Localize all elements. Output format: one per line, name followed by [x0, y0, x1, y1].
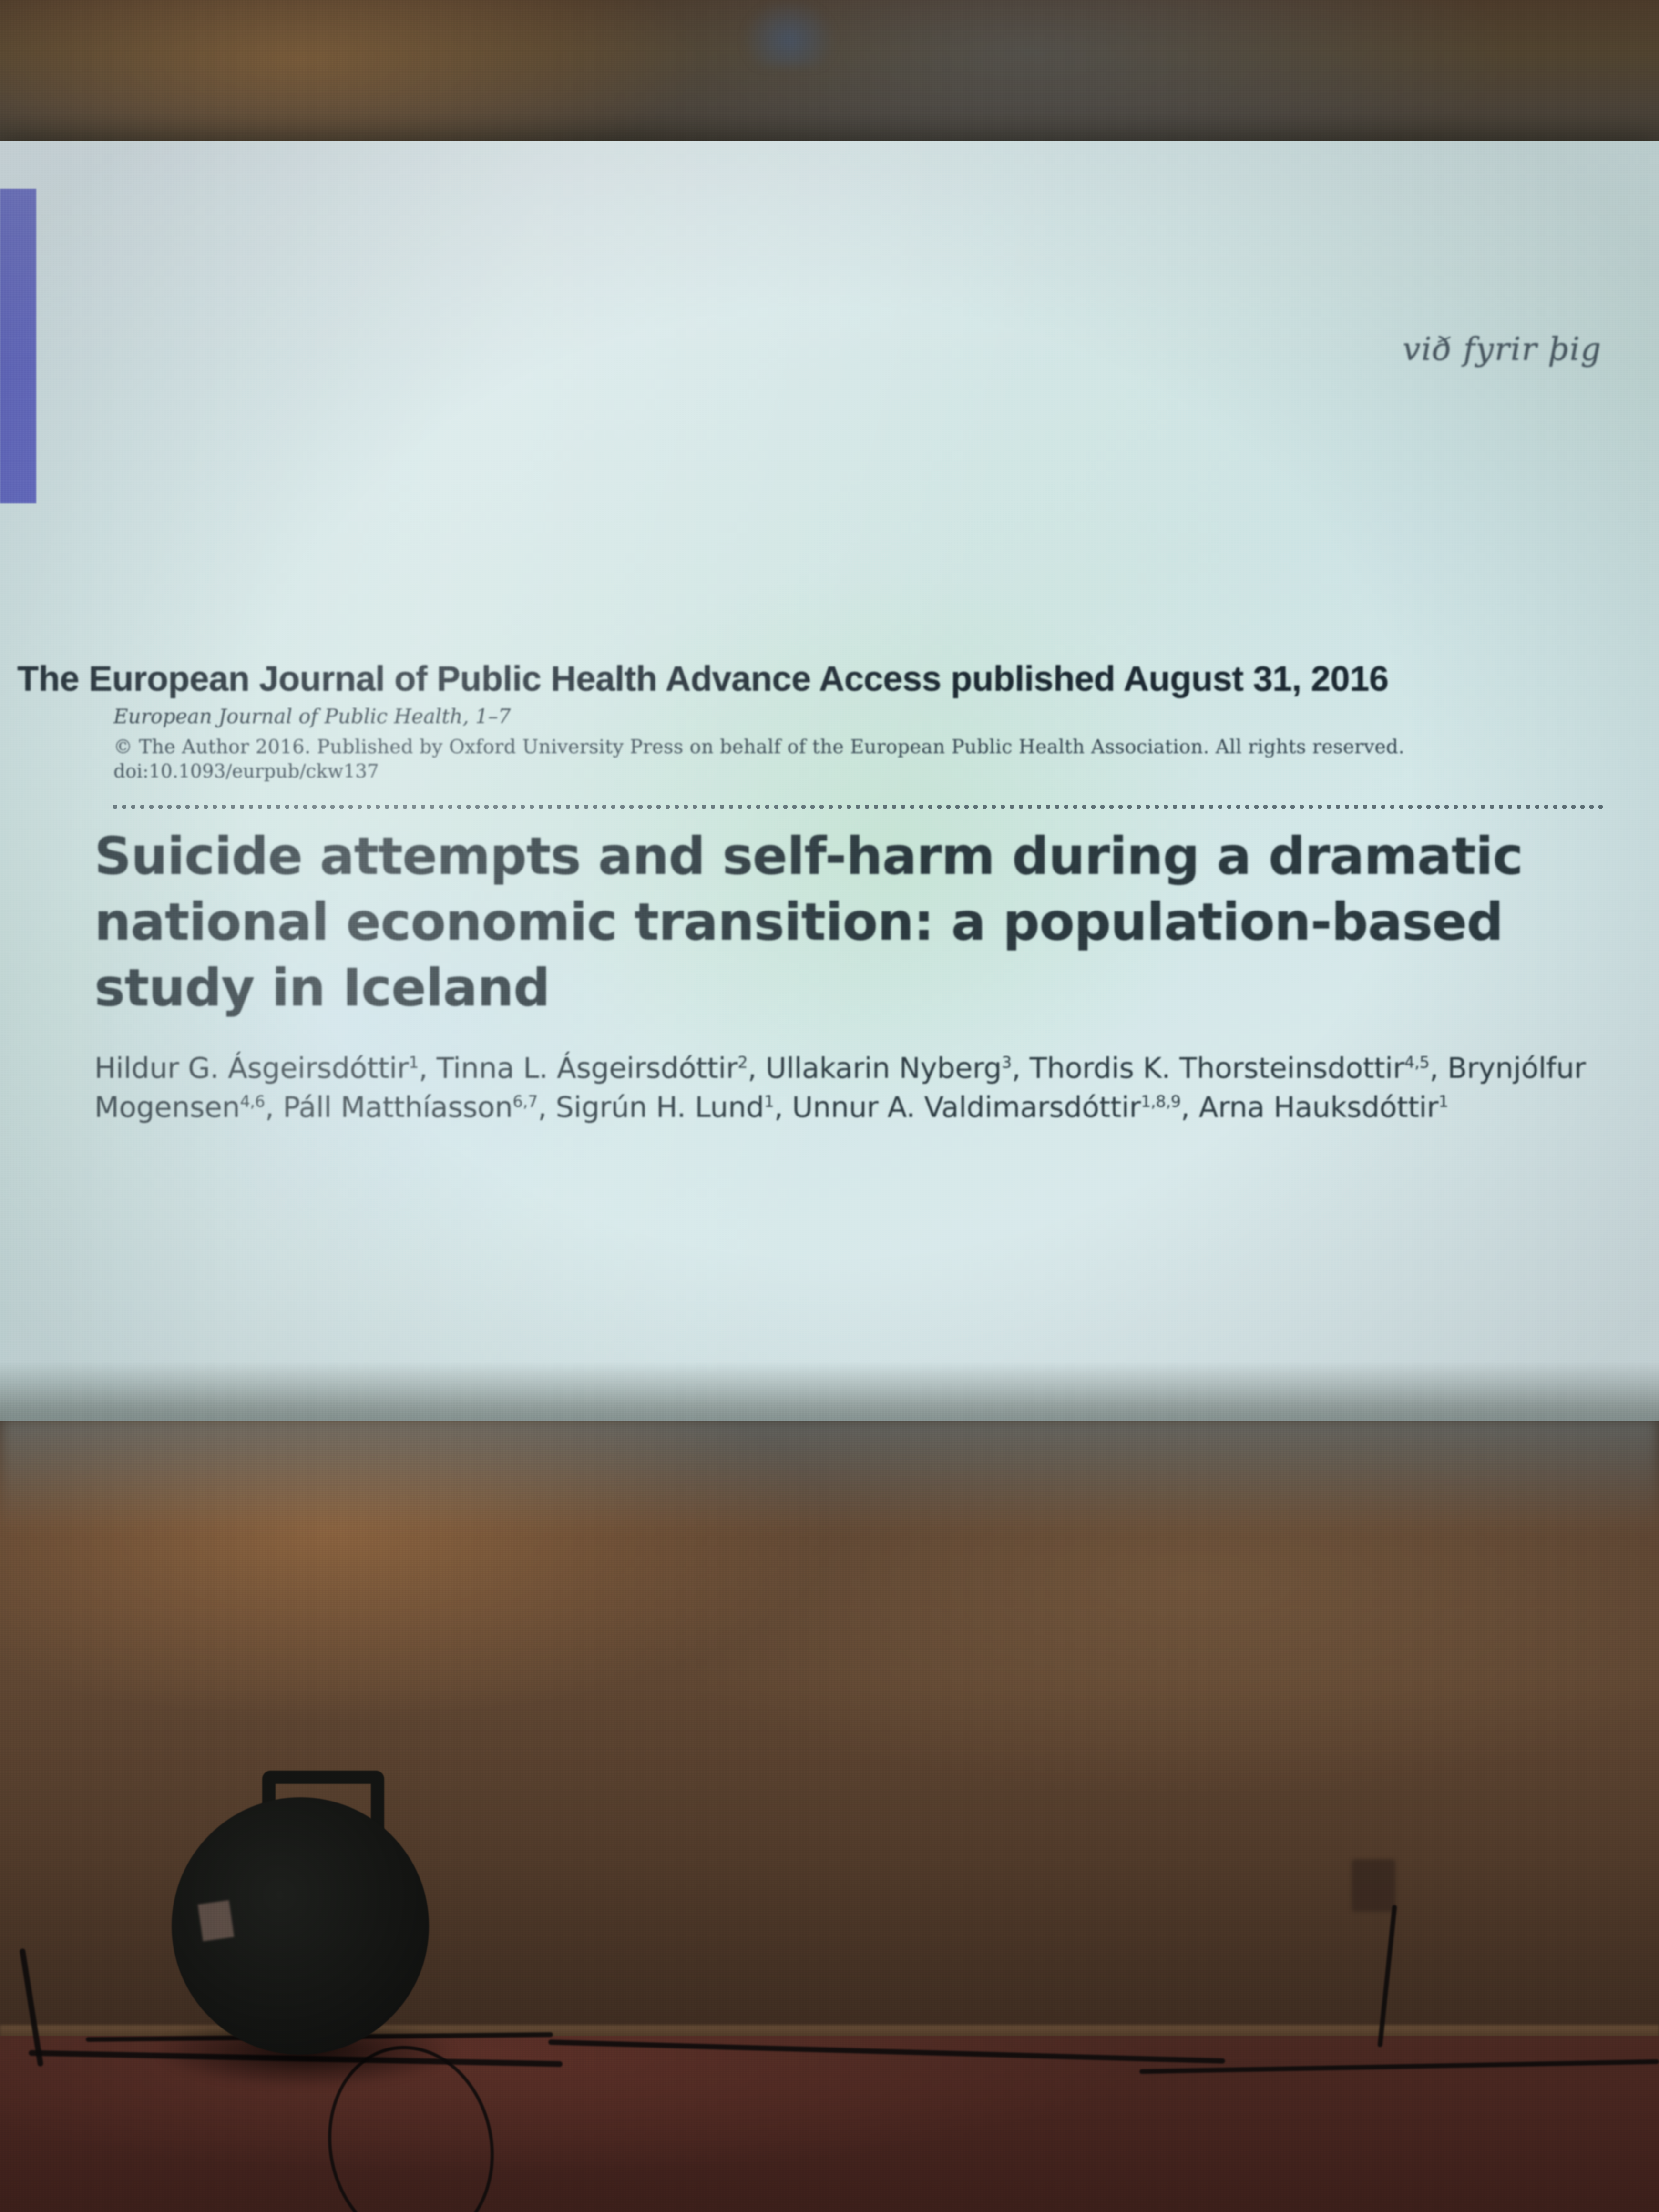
- paper-title-line-1: Suicide attempts and self-harm during a …: [94, 824, 1525, 890]
- doi-line: doi:10.1093/eurpub/ckw137: [113, 761, 379, 782]
- wall-smudge: [744, 0, 834, 67]
- cable-reel: [143, 1759, 458, 2064]
- presentation-slide: við fyrir þig The European Journal of Pu…: [0, 141, 1659, 1423]
- copyright-line: © The Author 2016. Published by Oxford U…: [113, 736, 1404, 758]
- paper-title: Suicide attempts and self-harm during a …: [94, 824, 1525, 1022]
- wall-projector-spill: [0, 1418, 1659, 1533]
- paper-title-line-3: study in Iceland: [94, 955, 1525, 1021]
- dotted-divider: [111, 805, 1603, 809]
- author-list: Hildur G. Ásgeirsdóttir1, Tinna L. Ásgei…: [94, 1049, 1591, 1127]
- photo-scene: við fyrir þig The European Journal of Pu…: [0, 0, 1659, 2212]
- advance-access-headline: The European Journal of Public Health Ad…: [17, 658, 1389, 699]
- cable-reel-label: [198, 1900, 234, 1941]
- projection-screen: við fyrir þig The European Journal of Pu…: [0, 141, 1659, 1423]
- power-outlet: [1352, 1859, 1395, 1912]
- wall-upper: [0, 0, 1659, 148]
- paper-title-line-2: national economic transition: a populati…: [94, 890, 1525, 955]
- journal-reference: European Journal of Public Health, 1–7: [113, 705, 511, 728]
- slide-tagline: við fyrir þig: [1403, 331, 1602, 368]
